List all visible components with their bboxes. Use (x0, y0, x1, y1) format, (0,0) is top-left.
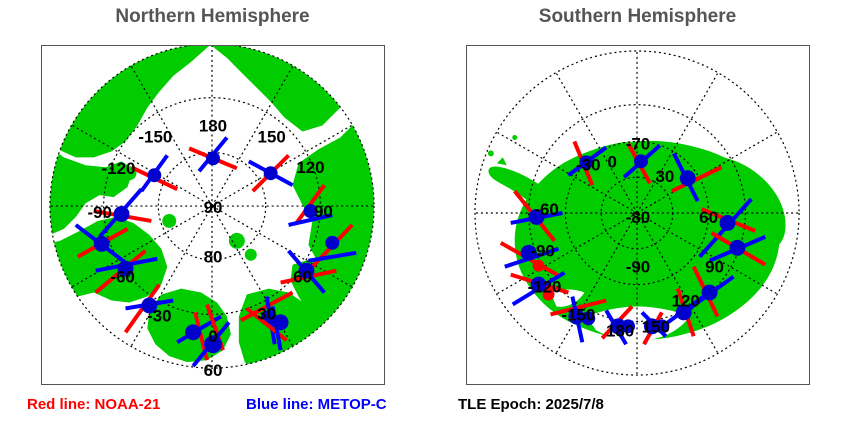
southern-polar-map: -90 -80 -70 -60 0 30 60 90 120 150 180 -… (467, 46, 809, 384)
north-lon-label-neg30: -30 (147, 306, 171, 325)
south-lon-label-neg120: -120 (528, 278, 562, 297)
south-lon-label-60: 60 (699, 208, 718, 227)
legend-tle-epoch: TLE Epoch: 2025/7/8 (458, 396, 604, 413)
satellite-marker (325, 236, 339, 250)
north-land-island-6 (162, 214, 176, 228)
north-lon-label-120: 120 (296, 158, 324, 177)
satellite-marker-secondary (533, 260, 545, 272)
north-lon-label-neg120: -120 (102, 159, 136, 178)
north-lon-label-neg90: -90 (87, 203, 111, 222)
north-lat-label-90: 90 (204, 198, 223, 217)
southern-hemisphere-panel: Southern Hemisphere (425, 0, 850, 390)
south-land-island-2 (512, 135, 517, 140)
satellite-marker (94, 236, 110, 252)
north-lon-label-150: 150 (258, 127, 286, 146)
satellite-marker (185, 324, 201, 340)
north-land-island-1 (229, 233, 245, 249)
south-lon-label-neg30: -30 (576, 155, 600, 174)
north-lon-label-neg60: -60 (110, 268, 134, 287)
south-lon-label-neg60: -60 (534, 200, 558, 219)
south-lon-label-150: 150 (642, 317, 670, 336)
north-lat-label-80: 80 (204, 248, 223, 267)
satellite-marker (720, 215, 736, 231)
satellite-marker (114, 206, 130, 222)
south-lat-label-neg90: -90 (626, 258, 650, 277)
satellite-marker (729, 240, 745, 256)
north-lon-label-90: 90 (314, 202, 333, 221)
north-lon-label-0: 0 (208, 327, 217, 346)
northern-hemisphere-plot: 90 80 60 0 30 60 90 120 150 180 -150 -12… (41, 45, 385, 385)
north-land-island-4 (93, 176, 111, 194)
north-lat-label-60: 60 (204, 361, 223, 380)
legend-bar: Red line: NOAA-21 Blue line: METOP-C TLE… (0, 392, 850, 425)
satellite-marker (147, 168, 161, 182)
legend-red-line: Red line: NOAA-21 (27, 396, 160, 413)
southern-hemisphere-plot: -90 -80 -70 -60 0 30 60 90 120 150 180 -… (466, 45, 810, 385)
southern-hemisphere-title: Southern Hemisphere (425, 6, 850, 28)
north-land-island-2 (245, 249, 257, 261)
south-lat-label-neg70: -70 (626, 134, 650, 153)
south-lon-label-0: 0 (607, 152, 616, 171)
north-lon-label-60: 60 (293, 268, 312, 287)
south-lat-label-neg80: -80 (626, 208, 650, 227)
northern-hemisphere-panel: Northern Hemisphere (0, 0, 425, 390)
south-land-island-1 (488, 150, 494, 156)
satellite-marker (206, 151, 220, 165)
south-lon-label-30: 30 (655, 167, 674, 186)
satellite-marker (264, 166, 278, 180)
south-lat-label-neg60: -60 (626, 46, 650, 50)
south-lon-label-180: 180 (606, 321, 634, 340)
satellite-marker (634, 154, 648, 168)
north-lon-label-neg150: -150 (138, 127, 172, 146)
south-lon-label-90: 90 (705, 258, 724, 277)
north-lon-label-180: 180 (199, 116, 227, 135)
northern-polar-map: 90 80 60 0 30 60 90 120 150 180 -150 -12… (42, 46, 384, 384)
satellite-marker (680, 170, 696, 186)
legend-blue-line: Blue line: METOP-C (246, 396, 387, 413)
south-lon-label-neg150: -150 (561, 305, 595, 324)
south-lon-label-120: 120 (672, 291, 700, 310)
south-lon-label-neg90: -90 (530, 242, 554, 261)
northern-hemisphere-title: Northern Hemisphere (0, 6, 425, 28)
satellite-track-figure: Northern Hemisphere (0, 0, 850, 425)
north-lon-label-30: 30 (257, 304, 276, 323)
